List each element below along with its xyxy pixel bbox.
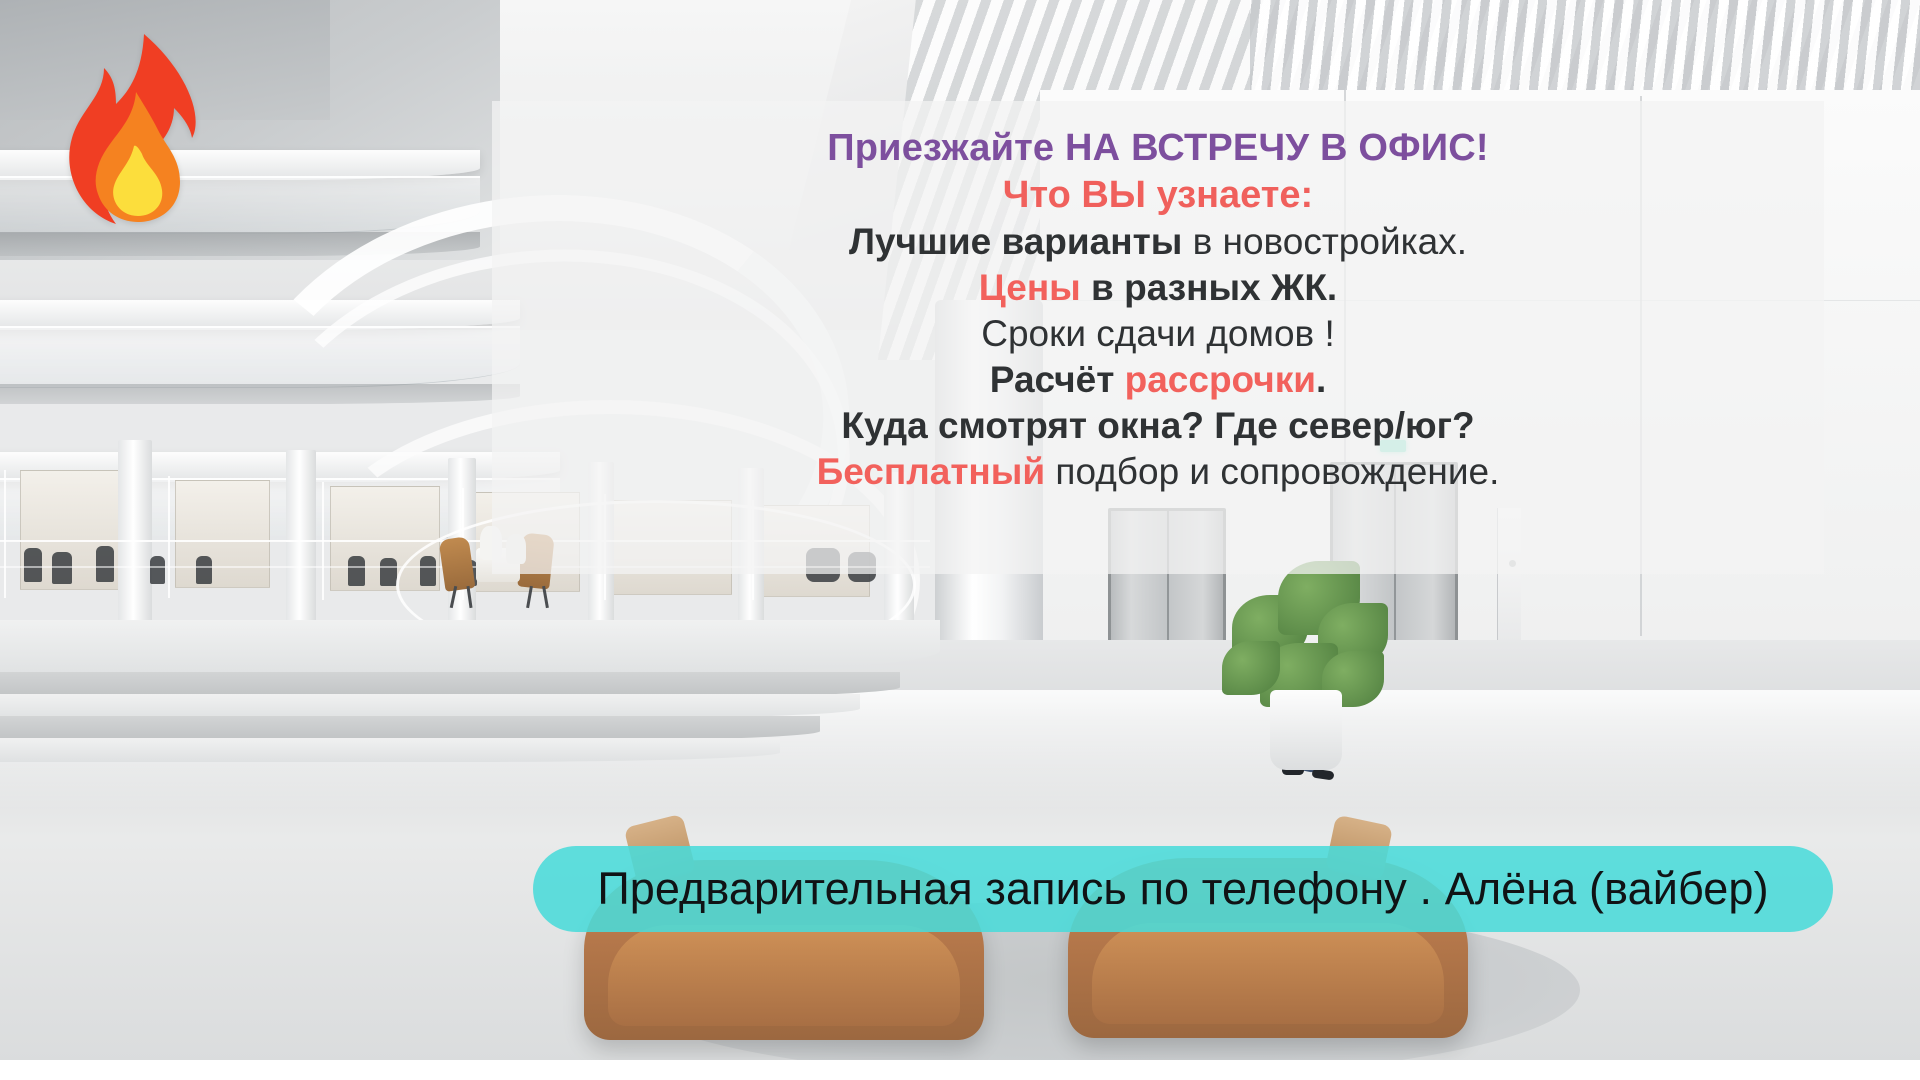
benefit-2-rest: в разных ЖК. — [1081, 267, 1337, 308]
cta-banner-text: Предварительная запись по телефону . Алё… — [597, 863, 1768, 915]
fire-icon — [58, 30, 208, 230]
benefit-line-5: Куда смотрят окна? Где север/юг? — [532, 403, 1784, 449]
plant-pot — [1270, 690, 1342, 770]
seated-person — [348, 556, 365, 586]
seated-person — [150, 556, 165, 584]
headline-secondary: Что ВЫ узнаете: — [532, 172, 1784, 219]
benefit-1-rest: в новостройках. — [1182, 221, 1467, 262]
benefit-4-bold: Расчёт — [990, 359, 1125, 400]
benefit-6-red: Бесплатный — [817, 451, 1046, 492]
seated-person — [52, 552, 72, 584]
benefit-1-bold: Лучшие варианты — [849, 221, 1182, 262]
seated-person — [380, 558, 397, 586]
bottom-margin — [0, 1060, 1920, 1080]
benefit-4-red: рассрочки — [1125, 359, 1316, 400]
poster-canvas: Приезжайте НА ВСТРЕЧУ В ОФИС! Что ВЫ узн… — [0, 0, 1920, 1080]
column — [286, 450, 316, 640]
benefit-line-1: Лучшие варианты в новостройках. — [532, 219, 1784, 265]
offer-text-panel: Приезжайте НА ВСТРЕЧУ В ОФИС! Что ВЫ узн… — [492, 101, 1824, 574]
seated-person — [24, 548, 42, 582]
benefit-line-6: Бесплатный подбор и сопровождение. — [532, 449, 1784, 495]
seated-person — [196, 556, 212, 584]
cta-banner[interactable]: Предварительная запись по телефону . Алё… — [533, 846, 1833, 932]
benefit-4-rest: . — [1316, 359, 1326, 400]
office-window — [175, 480, 270, 588]
benefit-2-red: Цены — [979, 267, 1081, 308]
benefit-line-3: Сроки сдачи домов ! — [532, 311, 1784, 357]
benefit-line-2: Цены в разных ЖК. — [532, 265, 1784, 311]
seated-person — [96, 546, 114, 582]
shoe — [1311, 769, 1334, 781]
headline-primary: Приезжайте НА ВСТРЕЧУ В ОФИС! — [532, 125, 1784, 172]
benefit-6-rest: подбор и сопровождение. — [1045, 451, 1499, 492]
benefit-line-4: Расчёт рассрочки. — [532, 357, 1784, 403]
